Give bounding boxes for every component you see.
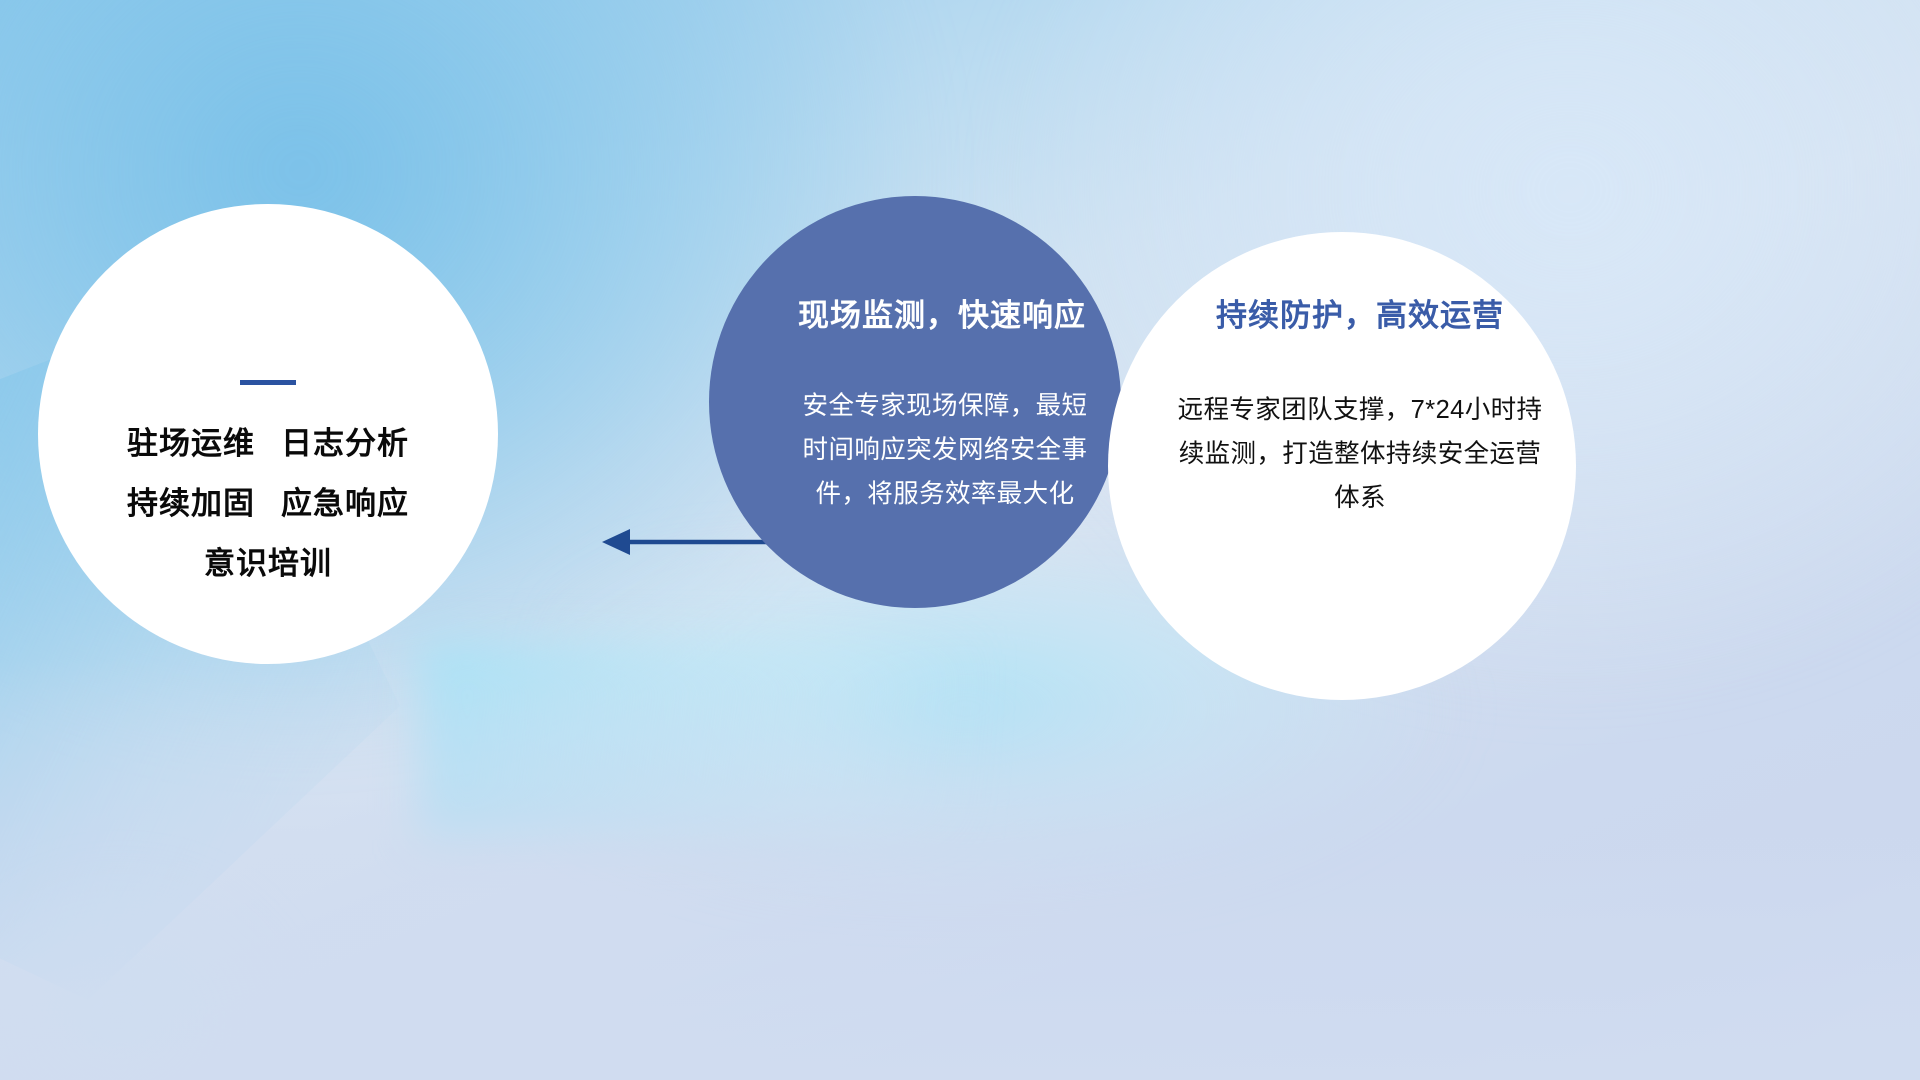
capability-label: 持续加固 — [127, 486, 255, 521]
capabilities-list: 驻场运维日志分析 持续加固应急响应 意识培训 — [127, 428, 409, 579]
capability-label: 日志分析 — [281, 426, 409, 461]
slide-canvas: 驻场运维日志分析 持续加固应急响应 意识培训 现场监测，快速响应 安全专家现场保… — [0, 0, 1920, 1080]
capabilities-row-1: 驻场运维日志分析 — [127, 428, 409, 459]
continuous-protection-title: 持续防护，高效运营 — [1216, 300, 1504, 331]
divider-dash — [240, 380, 296, 385]
onsite-monitoring-title: 现场监测，快速响应 — [798, 300, 1086, 331]
capability-label: 意识培训 — [204, 546, 332, 581]
capabilities-circle: 驻场运维日志分析 持续加固应急响应 意识培训 — [38, 204, 498, 664]
capability-label: 应急响应 — [281, 486, 409, 521]
onsite-monitoring-body: 安全专家现场保障，最短时间响应突发网络安全事件，将服务效率最大化 — [795, 385, 1095, 517]
continuous-protection-circle: 持续防护，高效运营 远程专家团队支撑，7*24小时持续监测，打造整体持续安全运营… — [1108, 232, 1576, 700]
onsite-monitoring-circle: 现场监测，快速响应 安全专家现场保障，最短时间响应突发网络安全事件，将服务效率最… — [709, 196, 1121, 608]
capabilities-row-3: 意识培训 — [204, 548, 332, 579]
continuous-protection-body: 远程专家团队支撑，7*24小时持续监测，打造整体持续安全运营体系 — [1174, 389, 1546, 521]
background-bottom-fade — [0, 660, 1920, 1080]
capabilities-row-2: 持续加固应急响应 — [127, 488, 409, 519]
capability-label: 驻场运维 — [127, 426, 255, 461]
